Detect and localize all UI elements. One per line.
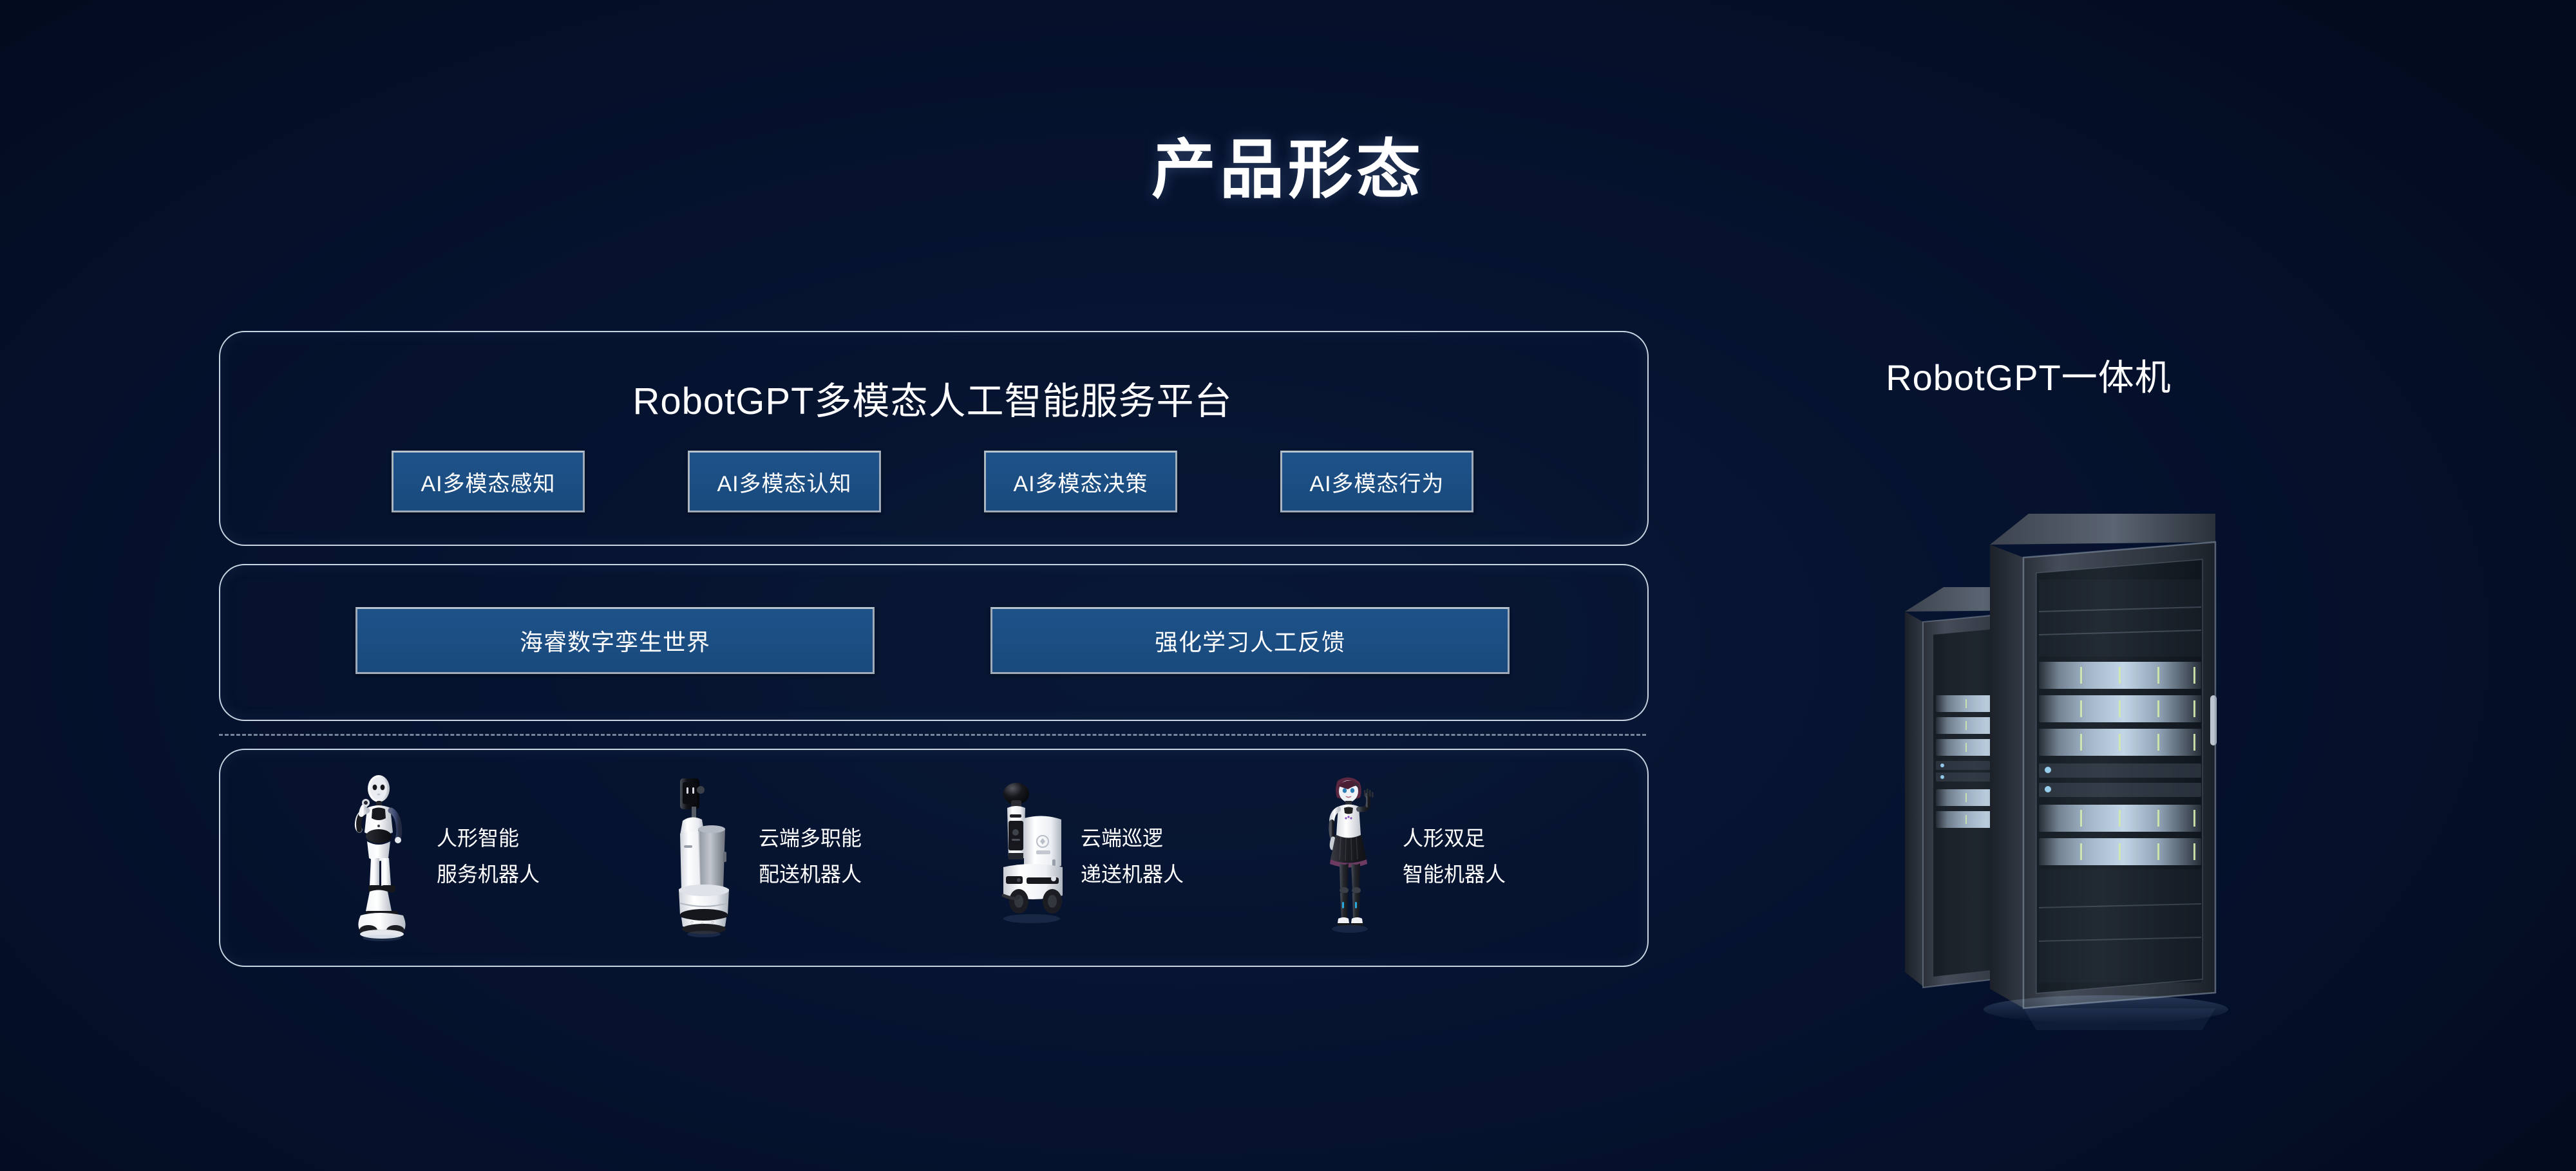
chip-behavior[interactable]: AI多模态行为 (1280, 451, 1473, 512)
robot-label-line1: 云端多职能 (759, 820, 862, 856)
robot-label-line2: 递送机器人 (1081, 856, 1184, 892)
robot-label: 云端多职能 配送机器人 (759, 820, 862, 892)
chip-perception[interactable]: AI多模态感知 (392, 451, 585, 512)
chip-cognition[interactable]: AI多模态认知 (688, 451, 881, 512)
robot-label-line1: 云端巡逻 (1081, 820, 1184, 856)
robot-label-line2: 配送机器人 (759, 856, 862, 892)
svg-text:○: ○ (690, 919, 694, 925)
button-rlhf[interactable]: 强化学习人工反馈 (990, 607, 1510, 674)
robot-item-cloud-delivery[interactable]: ○ ○ ○ 云端多职能 配送机器人 (663, 769, 947, 943)
appliance-title: RobotGPT一体机 (1739, 349, 2318, 401)
slide-root: 产品形态 RobotGPT多模态人工智能服务平台 AI多模态感知 AI多模态认知… (0, 0, 2576, 1171)
biped-humanoid-robot-icon (1307, 769, 1391, 943)
robot-label-line1: 人形智能 (437, 820, 540, 856)
robot-label-line2: 服务机器人 (437, 856, 540, 892)
robot-label: 云端巡逻 递送机器人 (1081, 820, 1184, 892)
engine-button-row: 海睿数字孪生世界 强化学习人工反馈 (219, 607, 1646, 674)
robot-item-biped-humanoid[interactable]: 人形双足 智能机器人 (1307, 769, 1591, 943)
platform-card (219, 331, 1649, 546)
server-rack-icon (1893, 418, 2254, 1030)
robot-label: 人形智能 服务机器人 (437, 820, 540, 892)
capability-chip-row: AI多模态感知 AI多模态认知 AI多模态决策 AI多模态行为 (219, 451, 1646, 512)
robot-list: 人形智能 服务机器人 (219, 760, 1646, 953)
button-digital-twin[interactable]: 海睿数字孪生世界 (355, 607, 875, 674)
robot-item-humanoid-service[interactable]: 人形智能 服务机器人 (341, 769, 625, 943)
page-title: 产品形态 (0, 117, 2576, 211)
robot-label-line2: 智能机器人 (1403, 856, 1506, 892)
section-divider (219, 734, 1646, 736)
platform-heading: RobotGPT多模态人工智能服务平台 (219, 371, 1646, 425)
chip-decision[interactable]: AI多模态决策 (984, 451, 1177, 512)
robot-item-patrol-delivery[interactable]: 云端巡逻 递送机器人 (985, 769, 1269, 943)
robot-label-line1: 人形双足 (1403, 820, 1506, 856)
cloud-delivery-robot-icon: ○ ○ ○ (663, 769, 747, 943)
humanoid-service-robot-icon (341, 769, 425, 943)
robot-label: 人形双足 智能机器人 (1403, 820, 1506, 892)
patrol-delivery-robot-icon (985, 769, 1069, 943)
